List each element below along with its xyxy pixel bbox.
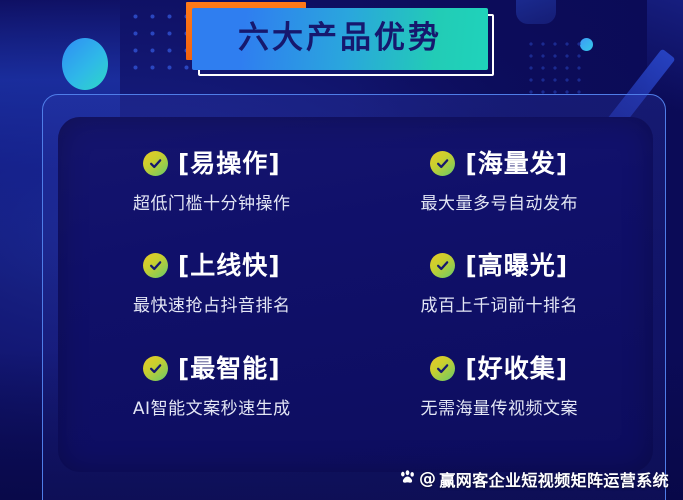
feature-heading: [最智能]	[143, 356, 281, 381]
feature-item-4: [高曝光] 成百上千词前十排名	[356, 245, 644, 347]
feature-item-3: [上线快] 最快速抢占抖音排名	[68, 245, 356, 347]
feature-heading: [海量发]	[430, 151, 568, 176]
feature-title: [高曝光]	[465, 253, 568, 278]
title-banner: 六大产品优势	[186, 2, 502, 80]
feature-title: [上线快]	[178, 253, 281, 278]
feature-heading: [好收集]	[430, 356, 568, 381]
feature-title: [海量发]	[465, 151, 568, 176]
feature-description: 最大量多号自动发布	[421, 189, 579, 214]
feature-item-5: [最智能] AI智能文案秒速生成	[68, 348, 356, 450]
feature-heading: [易操作]	[143, 151, 281, 176]
feature-heading: [高曝光]	[430, 253, 568, 278]
feature-grid: [易操作] 超低门槛十分钟操作 [海量发] 最大量多号自动发布 [上线快] 最快…	[58, 117, 653, 472]
feature-description: AI智能文案秒速生成	[133, 394, 291, 419]
watermark-text: 赢网客企业短视频矩阵运营系统	[439, 467, 669, 491]
check-circle-icon	[430, 253, 455, 278]
feature-title: [好收集]	[465, 356, 568, 381]
title-banner-gradient: 六大产品优势	[192, 8, 488, 70]
check-circle-icon	[430, 151, 455, 176]
feature-item-6: [好收集] 无需海量传视频文案	[356, 348, 644, 450]
check-circle-icon	[143, 356, 168, 381]
page-title: 六大产品优势	[238, 23, 442, 54]
feature-item-1: [易操作] 超低门槛十分钟操作	[68, 143, 356, 245]
decorative-gradient-circle	[62, 38, 108, 90]
baidu-paw-icon	[399, 469, 416, 490]
feature-title: [易操作]	[178, 151, 281, 176]
watermark: @ 赢网客企业短视频矩阵运营系统	[399, 467, 669, 491]
feature-title: [最智能]	[178, 356, 281, 381]
decorative-rounded-square	[516, 0, 556, 24]
feature-heading: [上线快]	[143, 253, 281, 278]
feature-description: 最快速抢占抖音排名	[133, 291, 291, 316]
feature-item-2: [海量发] 最大量多号自动发布	[356, 143, 644, 245]
check-circle-icon	[143, 253, 168, 278]
feature-description: 成百上千词前十排名	[421, 291, 579, 316]
feature-description: 超低门槛十分钟操作	[133, 189, 291, 214]
check-circle-icon	[430, 356, 455, 381]
feature-description: 无需海量传视频文案	[421, 394, 579, 419]
check-circle-icon	[143, 151, 168, 176]
decorative-dot-grid-right	[525, 38, 587, 94]
watermark-at: @	[419, 469, 436, 489]
promo-poster: 六大产品优势 [易操作] 超低门槛十分钟操作 [海量发] 最大量多号自动发布	[0, 0, 683, 500]
